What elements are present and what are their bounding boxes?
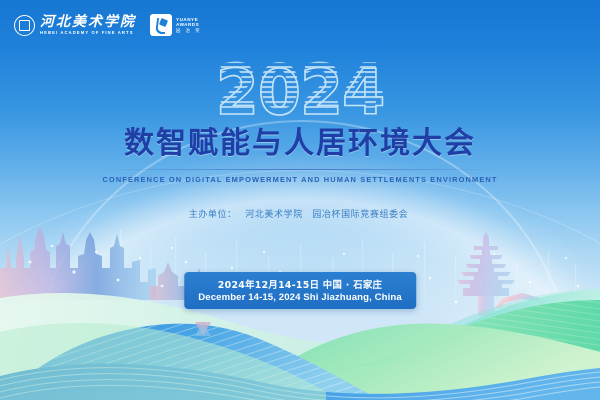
date-location-en: December 14-15, 2024 Shi Jiazhuang, Chin… <box>198 292 402 303</box>
organizer-item-2: 园冶杯国际竞赛组委会 <box>312 210 408 220</box>
sky-background <box>0 0 600 400</box>
organizer-line: 主办单位： 河北美术学院 园冶杯国际竞赛组委会 <box>0 207 600 220</box>
conference-banner: 河北美术学院 HEBEI ACADEMY OF FINE ARTS YUANYE… <box>0 0 600 400</box>
logo-hebei-academy[interactable]: 河北美术学院 HEBEI ACADEMY OF FINE ARTS <box>14 15 136 36</box>
headline-title-en: CONFERENCE ON DIGITAL EMPOWERMENT AND HU… <box>0 175 600 184</box>
yuanye-name-cn: 园 冶 奖 <box>176 28 202 34</box>
logo-bar: 河北美术学院 HEBEI ACADEMY OF FINE ARTS YUANYE… <box>14 14 202 36</box>
headline-title-cn: 数智赋能与人居环境大会 <box>0 128 600 160</box>
headline-block: 数智赋能与人居环境大会 CONFERENCE ON DIGITAL EMPOWE… <box>0 128 600 184</box>
academy-name-en: HEBEI ACADEMY OF FINE ARTS <box>40 31 136 35</box>
date-location-badge: 2024年12月14-15日 中国 · 石家庄 December 14-15, … <box>184 272 416 309</box>
academy-seal-icon <box>14 15 35 36</box>
organizer-item-1: 河北美术学院 <box>245 210 303 220</box>
logo-yuanye-awards[interactable]: YUANYE AWARDS 园 冶 奖 <box>150 14 202 36</box>
headline-divider <box>100 169 500 170</box>
date-location-cn: 2024年12月14-15日 中国 · 石家庄 <box>198 277 402 291</box>
academy-name-cn: 河北美术学院 <box>40 15 136 29</box>
yuanye-mark-icon <box>150 14 172 36</box>
organizer-label: 主办单位： <box>189 210 237 220</box>
